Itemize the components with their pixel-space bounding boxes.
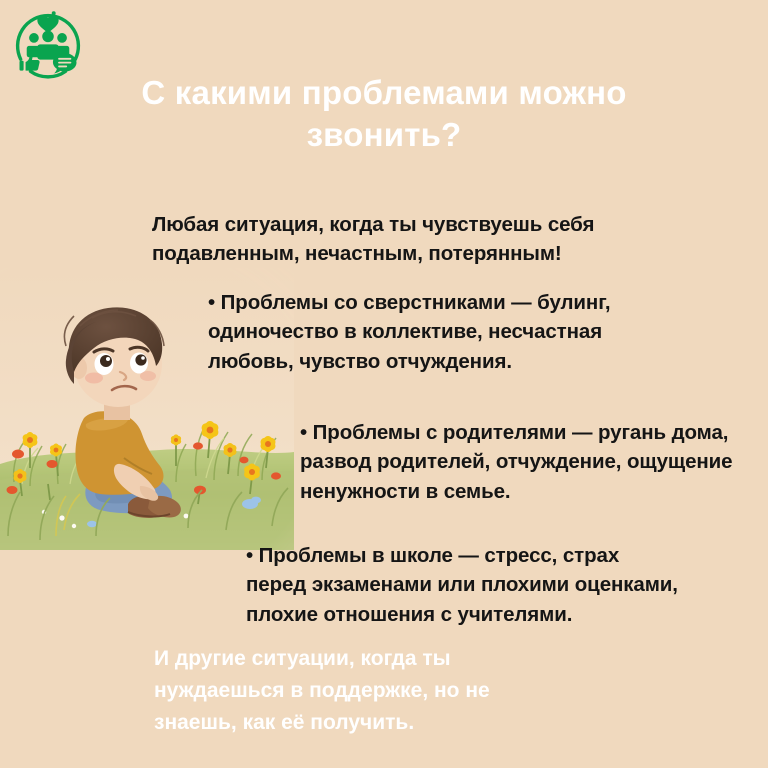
bullet-school-line-3: плохие отношения с учителями.: [246, 600, 686, 629]
outro-line-2: нуждаешься в поддержке, но не: [154, 675, 584, 707]
page-title: С какими проблемами можно звонить?: [96, 72, 672, 156]
intro-text: Любая ситуация, когда ты чувствуешь себя…: [152, 210, 658, 269]
bullet-school-line-2: перед экзаменами или плохими оценками,: [246, 570, 686, 599]
heart-icon: [37, 15, 58, 33]
circle-arc-icon-bottom: [31, 71, 66, 77]
support-hotline-logo: [10, 6, 86, 82]
bullet-school-line-1: • Проблемы в школе — стресс, страх: [246, 541, 686, 570]
bullet-parents-line-3: ненужности в семье.: [292, 477, 760, 506]
bullet-peers-line-2: одиночество в коллективе, несчастная: [208, 317, 670, 346]
bullet-parents-line-2: развод родителей, отчуждение, ощущение: [292, 447, 760, 476]
bullet-peers-line-1: • Проблемы со сверстниками — булинг,: [208, 288, 670, 317]
bullet-peers-line-3: любовь, чувство отчуждения.: [208, 347, 670, 376]
poster-canvas: С какими проблемами можно звонить?: [0, 0, 768, 768]
intro-line-2: подавленным, нечастным, потерянным!: [152, 239, 658, 268]
bullet-peers: • Проблемы со сверстниками — булинг, оди…: [208, 288, 670, 376]
outro-line-1: И другие ситуации, когда ты: [154, 643, 584, 675]
outro-text: И другие ситуации, когда ты нуждаешься в…: [154, 643, 584, 739]
intro-line-1: Любая ситуация, когда ты чувствуешь себя: [152, 210, 658, 239]
page-title-line-2: звонить?: [96, 114, 672, 156]
outro-line-3: знаешь, как её получить.: [154, 707, 584, 739]
bullet-parents-line-1: • Проблемы с родителями — ругань дома,: [292, 418, 760, 447]
speech-bubble-icon: [53, 53, 77, 73]
bullet-parents: • Проблемы с родителями — ругань дома, р…: [292, 418, 760, 506]
page-title-line-1: С какими проблемами можно: [96, 72, 672, 114]
bullet-school: • Проблемы в школе — стресс, страх перед…: [246, 541, 686, 629]
